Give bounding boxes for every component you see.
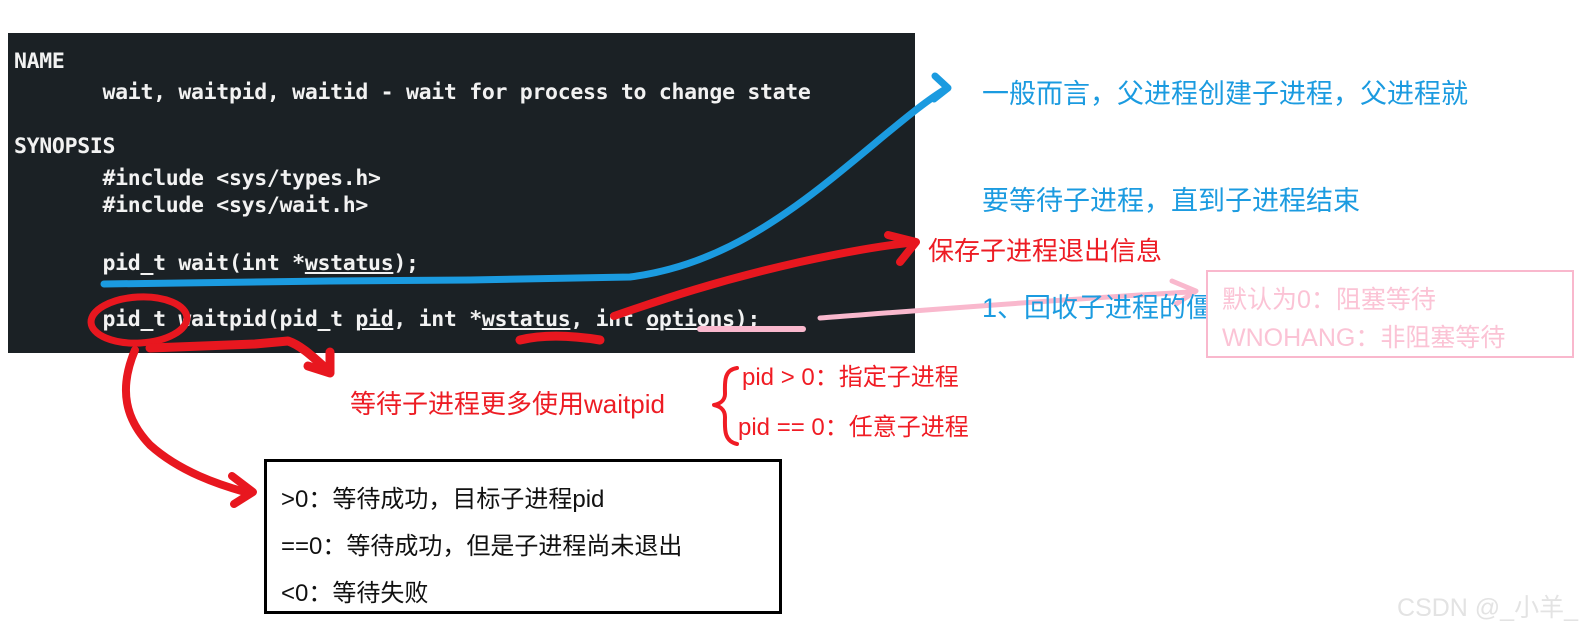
- pink-box-line-default: 默认为0：阻塞等待: [1222, 280, 1436, 316]
- manpage-line-include-types: #include <sys/types.h>: [14, 168, 381, 190]
- manpage-line-wait-proto: pid_t wait(int *wstatus);: [14, 253, 419, 275]
- blue-note-line-2: 要等待子进程，直到子进程结束: [982, 184, 1468, 220]
- manpage-line-waitpid-proto: pid_t waitpid(pid_t pid, int *wstatus, i…: [14, 309, 760, 331]
- return-value-line-zero: ==0：等待成功，但是子进程尚未退出: [281, 526, 682, 561]
- pink-options-box: 默认为0：阻塞等待 WNOHANG：非阻塞等待: [1206, 270, 1574, 358]
- red-note-waitpid: 等待子进程更多使用waitpid: [350, 387, 665, 421]
- return-value-box: >0：等待成功，目标子进程pid ==0：等待成功，但是子进程尚未退出 <0：等…: [264, 459, 782, 614]
- return-value-line-negative: <0：等待失败: [281, 573, 428, 608]
- pink-box-line-wnohang: WNOHANG：非阻塞等待: [1222, 318, 1505, 354]
- manpage-line-include-wait: #include <sys/wait.h>: [14, 195, 368, 217]
- manpage-line-name-heading: NAME: [14, 51, 65, 73]
- red-brace-pid: [714, 368, 737, 444]
- red-note-wstatus: 保存子进程退出信息: [928, 234, 1162, 268]
- blue-note-line-1: 一般而言，父进程创建子进程，父进程就: [982, 77, 1468, 113]
- manpage-line-name-body: wait, waitpid, waitid - wait for process…: [14, 82, 811, 104]
- manpage-terminal-block: NAME wait, waitpid, waitid - wait for pr…: [8, 33, 915, 353]
- screenshot-canvas: NAME wait, waitpid, waitid - wait for pr…: [0, 0, 1592, 632]
- red-note-pid-gt-zero: pid > 0：指定子进程: [742, 362, 959, 394]
- manpage-line-synopsis-heading: SYNOPSIS: [14, 136, 115, 158]
- red-note-pid-eq-zero: pid == 0：任意子进程: [738, 412, 969, 444]
- return-value-line-positive: >0：等待成功，目标子进程pid: [281, 479, 604, 514]
- csdn-watermark: CSDN @_小羊_: [1397, 588, 1578, 624]
- red-arrow-return-value: [126, 350, 253, 504]
